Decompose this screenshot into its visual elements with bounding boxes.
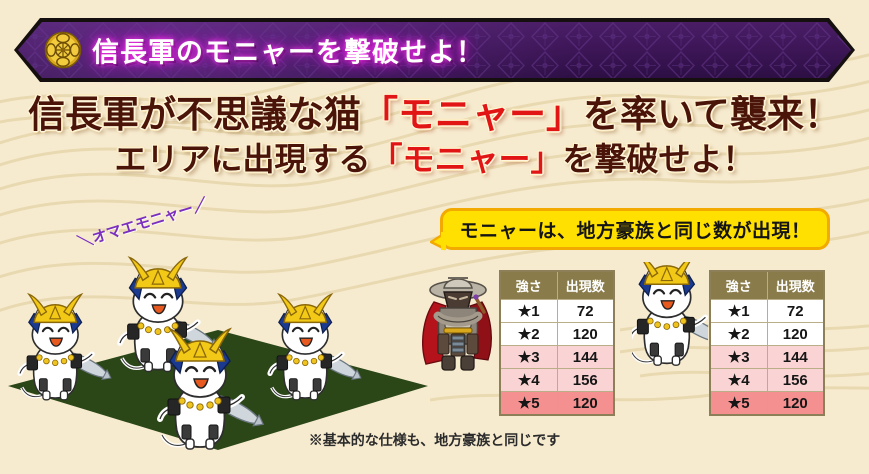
cell-strength: ★2 [710,323,767,346]
table-row: ★5 120 [710,392,824,416]
monya-cat-back-right [270,294,364,400]
table-row: ★3 144 [710,346,824,369]
monya-spawn-table-right: 強さ 出現数 ★1 72 ★2 120 ★3 144 ★4 156 ★5 120 [709,270,825,416]
table-row: ★1 72 [710,300,824,323]
table-right-col-strength: 強さ [710,271,767,300]
cell-strength: ★4 [500,369,557,392]
table-left-col-count: 出現数 [557,271,614,300]
headline-line-2: エリアに出現する「モニャー」を撃破せよ！ [0,138,869,180]
table-row: ★2 120 [710,323,824,346]
cell-strength: ★1 [500,300,557,323]
headline-block: 信長軍が不思議な猫「モニャー」を率いて襲来！ エリアに出現する「モニャー」を撃破… [0,92,869,180]
title-banner: 信長軍のモニャーを撃破せよ！ [14,18,855,82]
table-right-col-count: 出現数 [767,271,824,300]
table-row: ★5 120 [500,392,614,416]
cell-strength: ★1 [710,300,767,323]
table-left-header-row: 強さ 出現数 [500,271,614,300]
cell-count: 156 [557,369,614,392]
cell-strength: ★4 [710,369,767,392]
cell-strength: ★5 [710,392,767,416]
headline-l1-part1: 信長軍が不思議な猫 [28,94,361,135]
footnote-text: ※基本的な仕様も、地方豪族と同じです [0,430,869,450]
cell-count: 156 [767,369,824,392]
samurai-warlord-sprite [418,268,498,376]
cell-strength: ★5 [500,392,557,416]
cell-count: 144 [767,346,824,369]
headline-l2-part1: エリアに出現する [114,141,370,177]
speech-bubble-tail [430,231,446,251]
monya-cat-sprite [632,262,708,374]
monya-cat-group [8,255,428,455]
cell-count: 72 [767,300,824,323]
table-row: ★1 72 [500,300,614,323]
cell-count: 72 [557,300,614,323]
table-row: ★4 156 [500,369,614,392]
monya-cat-back-left [20,294,114,400]
headline-l2-part3: を撃破せよ！ [563,141,755,177]
monya-spawn-table-left: 強さ 出現数 ★1 72 ★2 120 ★3 144 ★4 156 ★5 120 [499,270,615,416]
cell-strength: ★2 [500,323,557,346]
cell-count: 120 [557,323,614,346]
headline-l1-highlight: 「モニャー」 [361,94,583,135]
headline-l1-part3: を率いて襲来！ [583,94,841,135]
table-row: ★4 156 [710,369,824,392]
cell-count: 120 [767,392,824,416]
oda-mokko-crest-icon [44,31,82,69]
cell-count: 120 [767,323,824,346]
speech-bubble-text: モニャーは、地方豪族と同じ数が出現！ [459,216,810,243]
table-row: ★3 144 [500,346,614,369]
cell-count: 144 [557,346,614,369]
cell-count: 120 [557,392,614,416]
table-left-col-strength: 強さ [500,271,557,300]
table-row: ★2 120 [500,323,614,346]
speech-bubble: モニャーは、地方豪族と同じ数が出現！ [440,208,830,250]
cell-strength: ★3 [710,346,767,369]
cell-strength: ★3 [500,346,557,369]
headline-line-1: 信長軍が不思議な猫「モニャー」を率いて襲来！ [0,92,869,138]
table-right-header-row: 強さ 出現数 [710,271,824,300]
headline-l2-highlight: 「モニャー」 [370,141,562,177]
banner-title-text: 信長軍のモニャーを撃破せよ！ [92,31,484,70]
